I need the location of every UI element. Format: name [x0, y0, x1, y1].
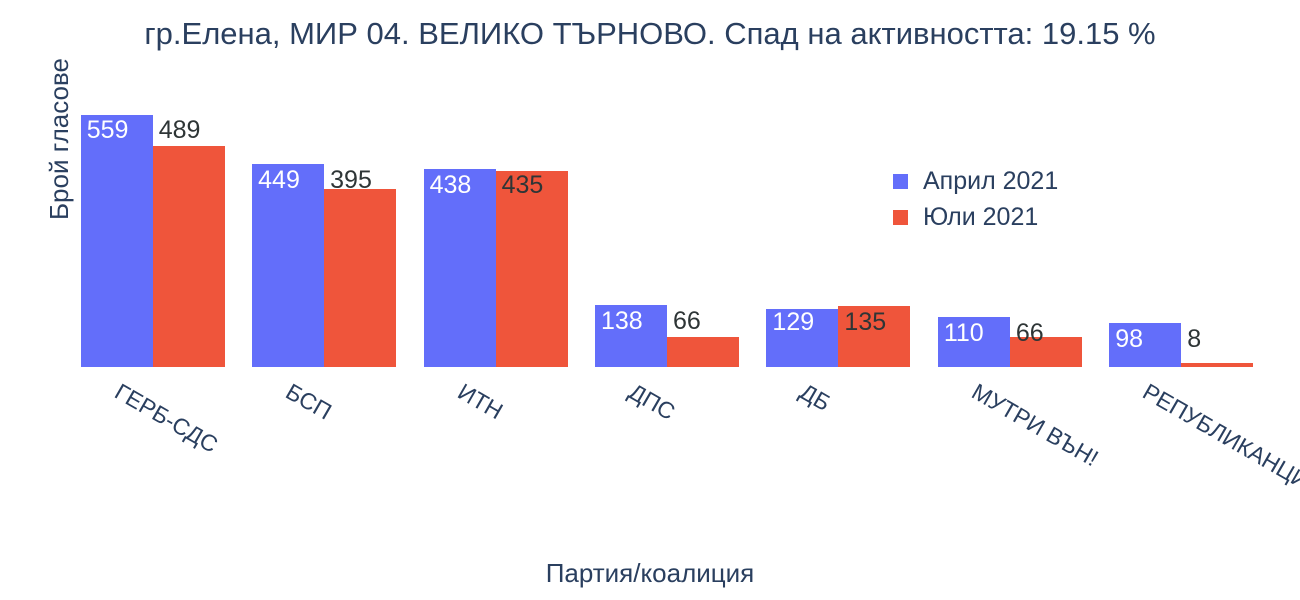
bar-value-label: 66 — [673, 309, 701, 334]
y-axis-title: Брой гласове — [45, 14, 73, 264]
bar-value-label: 395 — [330, 168, 372, 193]
bar-value-label: 489 — [159, 118, 201, 143]
x-axis-tick-label: ГЕРБ-СДС — [110, 379, 221, 458]
legend-item[interactable]: Април 2021 — [893, 163, 1058, 199]
legend-swatch-icon — [893, 210, 908, 225]
bar-value-label: 435 — [502, 173, 544, 198]
legend: Април 2021Юли 2021 — [893, 163, 1058, 235]
legend-label: Юли 2021 — [923, 205, 1038, 230]
bar[interactable] — [1181, 363, 1253, 367]
x-axis-tick-label: ДПС — [625, 379, 680, 425]
bar[interactable] — [153, 146, 225, 367]
bar-chart: гр.Елена, МИР 04. ВЕЛИКО ТЪРНОВО. Спад н… — [0, 0, 1300, 600]
bar-value-label: 66 — [1016, 321, 1044, 346]
x-axis-title: Партия/коалиция — [0, 558, 1300, 588]
bar-value-label: 449 — [258, 168, 300, 193]
bar-value-label: 110 — [944, 321, 984, 346]
bar[interactable] — [667, 337, 739, 367]
chart-title: гр.Елена, МИР 04. ВЕЛИКО ТЪРНОВО. Спад н… — [0, 14, 1300, 54]
x-axis-tick-label: МУТРИ ВЪН! — [967, 379, 1102, 471]
x-axis-tick-label: БСП — [282, 379, 336, 425]
bar-value-label: 138 — [601, 309, 643, 334]
legend-label: Април 2021 — [923, 169, 1058, 194]
bar-value-label: 135 — [844, 310, 886, 335]
bar[interactable] — [252, 164, 324, 367]
x-axis-tick-label: РЕПУБЛИКАНЦИ ЗА БГ — [1139, 379, 1300, 529]
bar-value-label: 129 — [772, 310, 814, 335]
bar[interactable] — [324, 189, 396, 367]
bar-value-label: 438 — [430, 173, 472, 198]
legend-swatch-icon — [893, 174, 908, 189]
x-axis-tick-label: ИТН — [453, 379, 506, 424]
legend-item[interactable]: Юли 2021 — [893, 199, 1058, 235]
x-axis-tick-label: ДБ — [796, 379, 835, 416]
bar-value-label: 559 — [87, 118, 129, 143]
bar[interactable] — [81, 115, 153, 368]
bar-value-label: 98 — [1115, 327, 1143, 352]
bar-value-label: 8 — [1187, 327, 1201, 352]
bar[interactable] — [496, 171, 568, 368]
plot-area: 0100200300400500 55948944939543843513866… — [95, 105, 1295, 367]
